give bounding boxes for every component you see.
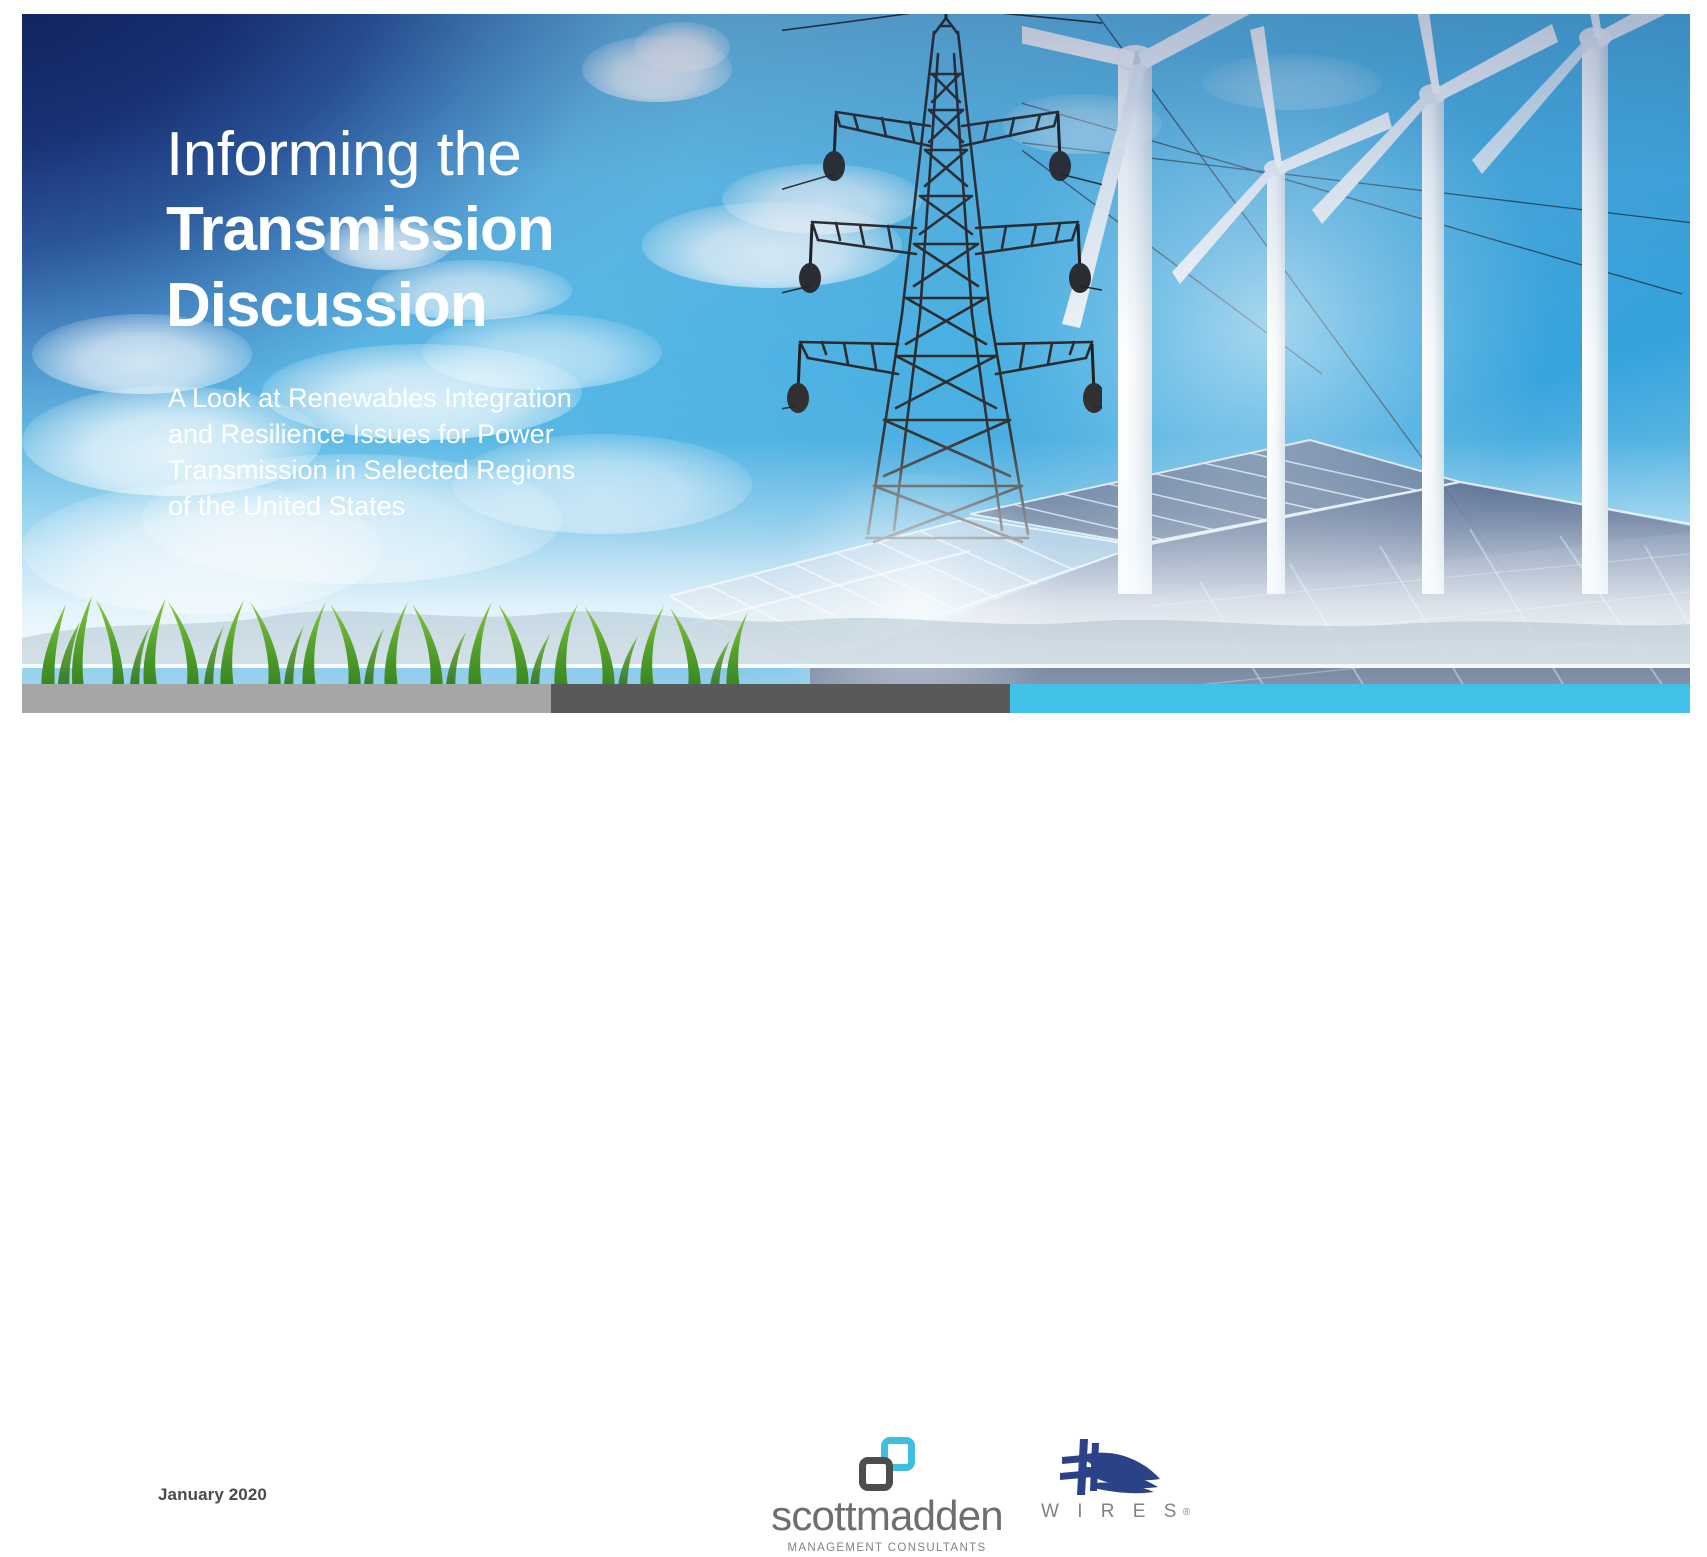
- subtitle-line-1: A Look at Renewables Integration: [168, 380, 638, 416]
- slide-footer: January 2020 scottmadden MANAGEMENT CONS…: [0, 713, 1707, 960]
- wires-wordmark: W I R E S®: [1035, 1501, 1185, 1523]
- accent-bar-segment-cyan: [1010, 684, 1690, 713]
- registered-mark: ®: [1183, 1507, 1190, 1518]
- scottmadden-wordmark: scottmadden: [762, 1495, 1012, 1537]
- subtitle-line-3: Transmission in Selected Regions: [168, 452, 638, 488]
- wires-logo: W I R E S®: [1035, 1437, 1185, 1557]
- overlapping-rounded-squares-icon: [859, 1437, 915, 1491]
- scottmadden-tagline: MANAGEMENT CONSULTANTS: [762, 1542, 1012, 1554]
- accent-bar-segment-light-gray: [22, 684, 551, 713]
- slide-title: Informing the Transmission Discussion: [166, 118, 686, 344]
- wires-leaf-tower-icon: [1054, 1437, 1166, 1499]
- accent-bar-segment-dark-gray: [551, 684, 1010, 713]
- subtitle-line-4: of the United States: [168, 488, 638, 524]
- square-gray: [859, 1457, 893, 1491]
- scottmadden-logo: scottmadden MANAGEMENT CONSULTANTS: [762, 1437, 1012, 1557]
- title-slide: Informing the Transmission Discussion A …: [0, 0, 1707, 960]
- accent-bar: [22, 684, 1690, 713]
- date-label: January 2020: [158, 1485, 267, 1505]
- title-line-2: Transmission: [166, 192, 686, 268]
- wires-wordmark-text: W I R E S: [1041, 1501, 1183, 1522]
- subtitle-line-2: and Resilience Issues for Power: [168, 416, 638, 452]
- hero-image: Informing the Transmission Discussion A …: [22, 14, 1690, 756]
- slide-subtitle: A Look at Renewables Integration and Res…: [168, 380, 638, 524]
- title-line-3: Discussion: [166, 268, 686, 344]
- title-line-1: Informing the: [166, 118, 686, 192]
